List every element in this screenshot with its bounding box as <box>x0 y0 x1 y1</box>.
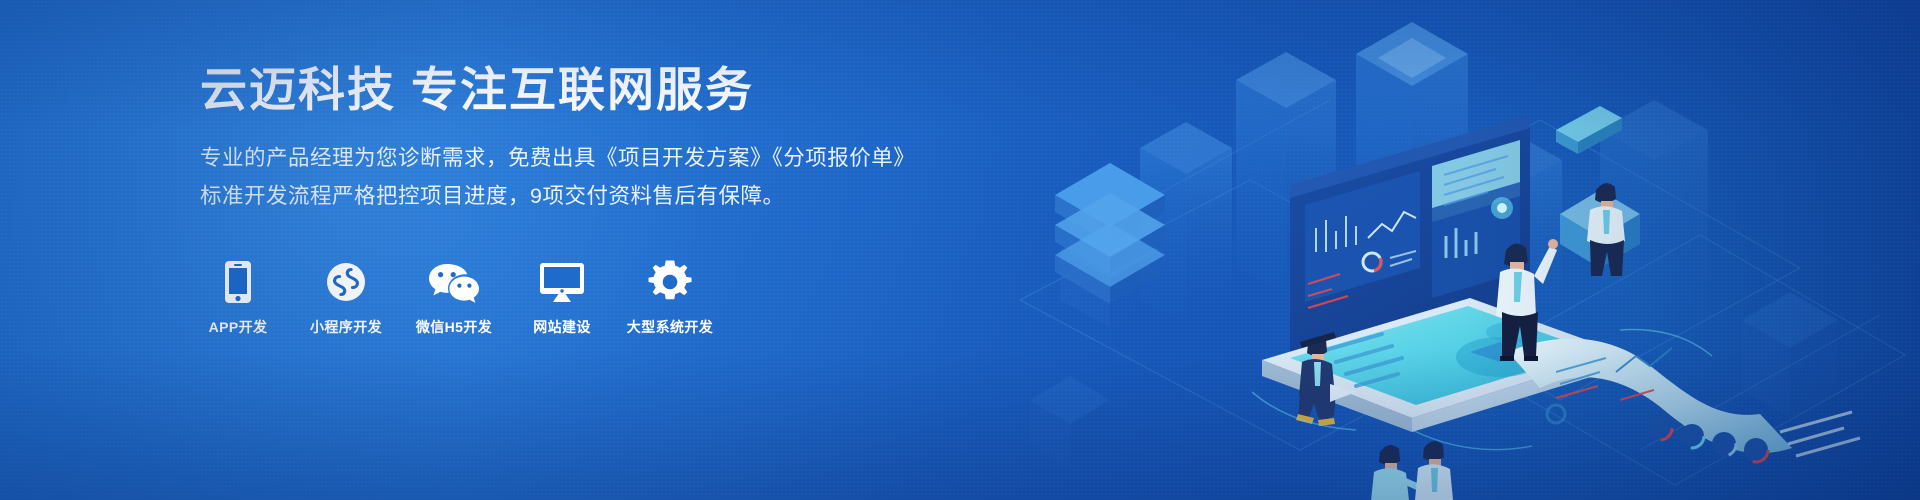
mobile-phone-icon <box>223 260 253 304</box>
banner-subtitle: 专业的产品经理为您诊断需求，免费出具《项目开发方案》《分项报价单》 标准开发流程… <box>200 140 960 215</box>
service-item-large-system[interactable]: 大型系统开发 <box>632 260 708 337</box>
background-glow-right <box>1040 0 1920 500</box>
gear-icon <box>648 260 692 304</box>
illustration-dashboard-screen <box>1290 115 1530 372</box>
service-item-app[interactable]: APP开发 <box>200 260 276 337</box>
illustration-person-pair <box>1371 441 1453 500</box>
service-label-app: APP开发 <box>209 317 268 337</box>
service-label-website: 网站建设 <box>533 317 591 337</box>
illustration-buildings <box>1030 22 1838 468</box>
page-title: 云迈科技 专注互联网服务 <box>200 62 960 118</box>
illustration-tablet-device <box>1262 298 1620 432</box>
subtitle-line-2: 标准开发流程严格把控项目进度，9项交付资料售后有保障。 <box>200 178 960 216</box>
service-list: APP开发 小程序开发 <box>200 260 960 337</box>
service-item-mini-program[interactable]: 小程序开发 <box>308 260 384 337</box>
illustration-person-presenter <box>1486 239 1558 361</box>
service-label-large-system: 大型系统开发 <box>627 317 713 337</box>
illustration-person-right <box>1587 183 1625 276</box>
service-label-mini-program: 小程序开发 <box>310 317 382 337</box>
service-label-wechat-h5: 微信H5开发 <box>416 317 492 337</box>
illustration-floating-panel <box>1556 106 1622 154</box>
hero-banner: 云迈科技 专注互联网服务 专业的产品经理为您诊断需求，免费出具《项目开发方案》《… <box>0 0 1920 500</box>
mini-program-icon <box>326 260 366 304</box>
service-item-website[interactable]: 网站建设 <box>524 260 600 337</box>
illustration-server-stack <box>1055 163 1165 304</box>
isometric-tech-illustration <box>1000 0 1920 500</box>
illustration-grid-lines <box>1020 100 1905 485</box>
illustration-report-paper <box>1508 339 1860 462</box>
banner-content: 云迈科技 专注互联网服务 专业的产品经理为您诊断需求，免费出具《项目开发方案》《… <box>200 62 960 337</box>
monitor-icon <box>539 260 585 304</box>
wechat-icon <box>428 260 480 304</box>
illustration-small-cube <box>1560 190 1640 268</box>
subtitle-line-1: 专业的产品经理为您诊断需求，免费出具《项目开发方案》《分项报价单》 <box>200 140 960 178</box>
service-item-wechat-h5[interactable]: 微信H5开发 <box>416 260 492 337</box>
illustration-person-laptop <box>1296 332 1356 426</box>
illustration-connector-lines <box>1252 330 1712 450</box>
